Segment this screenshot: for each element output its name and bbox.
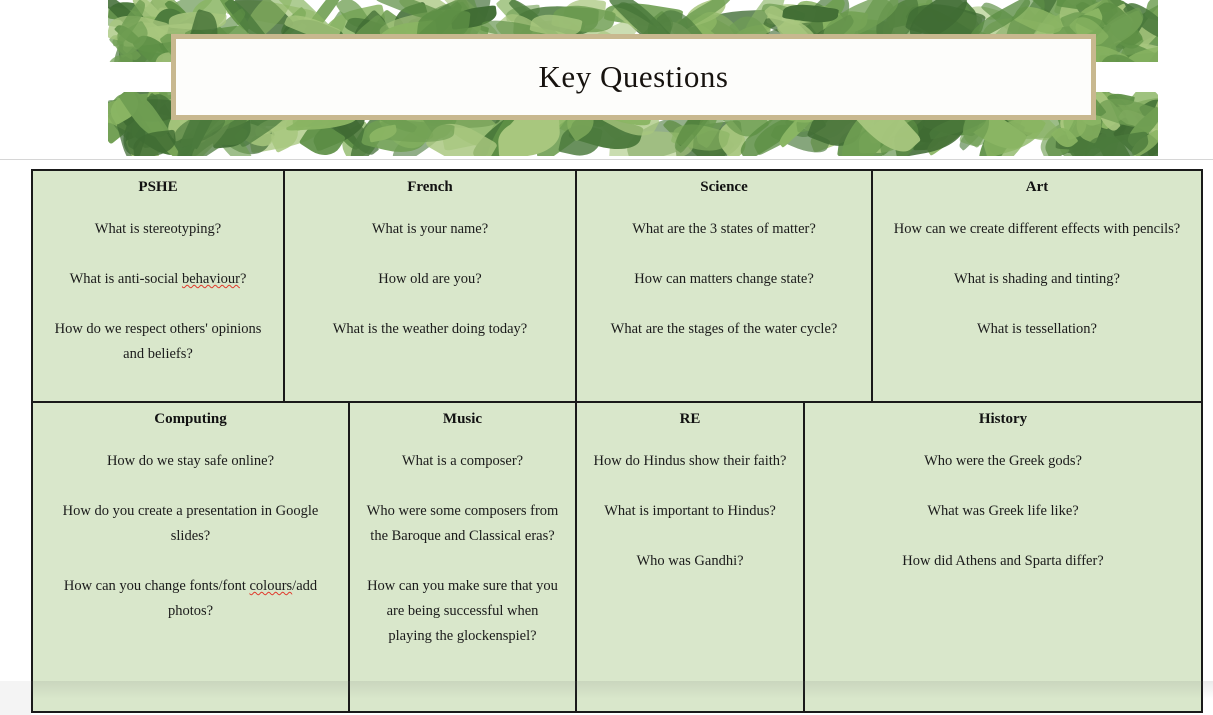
subject-cell-history[interactable]: History Who were the Greek gods? What wa… <box>803 403 1201 711</box>
question-item: How do we stay safe online? <box>43 449 338 474</box>
subject-title: RE <box>587 409 793 429</box>
question-item: Who were some composers from the Baroque… <box>360 499 565 549</box>
subject-title: Science <box>587 177 861 197</box>
question-item: How old are you? <box>295 267 565 292</box>
question-item: Who were the Greek gods? <box>815 449 1191 474</box>
subject-cell-music[interactable]: Music What is a composer? Who were some … <box>348 403 575 711</box>
spellcheck-word: colours <box>249 578 292 594</box>
key-questions-table: PSHE What is stereotyping? What is anti-… <box>31 169 1203 713</box>
subject-cell-science[interactable]: Science What are the 3 states of matter?… <box>575 171 871 401</box>
subject-cell-art[interactable]: Art How can we create different effects … <box>871 171 1201 401</box>
spellcheck-word: behaviour <box>182 271 240 287</box>
question-item: How can you make sure that you are being… <box>360 574 565 649</box>
subject-cell-pshe[interactable]: PSHE What is stereotyping? What is anti-… <box>33 171 283 401</box>
subject-title: Art <box>883 177 1191 197</box>
question-item: How do you create a presentation in Goog… <box>43 499 338 549</box>
question-item: What is important to Hindus? <box>587 499 793 524</box>
subject-cell-re[interactable]: RE How do Hindus show their faith? What … <box>575 403 803 711</box>
page-title: Key Questions <box>539 59 729 95</box>
left-margin-strip <box>0 681 31 715</box>
question-item: How can we create different effects with… <box>883 217 1191 242</box>
header-divider <box>0 159 1213 160</box>
page-header-banner: Key Questions <box>0 0 1213 160</box>
question-item: How did Athens and Sparta differ? <box>815 549 1191 574</box>
subject-title: PSHE <box>43 177 273 197</box>
table-row: Computing How do we stay safe online? Ho… <box>33 403 1201 711</box>
question-item: What are the stages of the water cycle? <box>587 317 861 342</box>
question-item: Who was Gandhi? <box>587 549 793 574</box>
question-item: What is stereotyping? <box>43 217 273 242</box>
tropical-leaf-artwork: Key Questions <box>108 0 1158 152</box>
question-item: What is shading and tinting? <box>883 267 1191 292</box>
title-plate: Key Questions <box>171 34 1096 120</box>
question-item: What is anti-social behaviour? <box>43 267 273 292</box>
subject-cell-computing[interactable]: Computing How do we stay safe online? Ho… <box>33 403 348 711</box>
question-item: What is your name? <box>295 217 565 242</box>
question-item: How can you change fonts/font colours/ad… <box>43 574 338 624</box>
question-item: What is tessellation? <box>883 317 1191 342</box>
subject-title: History <box>815 409 1191 429</box>
subject-title: French <box>295 177 565 197</box>
question-item: How can matters change state? <box>587 267 861 292</box>
subject-title: Computing <box>43 409 338 429</box>
question-item: What are the 3 states of matter? <box>587 217 861 242</box>
question-item: How do we respect others' opinions and b… <box>43 317 273 367</box>
question-item: How do Hindus show their faith? <box>587 449 793 474</box>
title-plate-inner: Key Questions <box>176 39 1091 115</box>
question-item: What is the weather doing today? <box>295 317 565 342</box>
question-item: What was Greek life like? <box>815 499 1191 524</box>
subject-cell-french[interactable]: French What is your name? How old are yo… <box>283 171 575 401</box>
question-item: What is a composer? <box>360 449 565 474</box>
table-row: PSHE What is stereotyping? What is anti-… <box>33 171 1201 403</box>
subject-title: Music <box>360 409 565 429</box>
